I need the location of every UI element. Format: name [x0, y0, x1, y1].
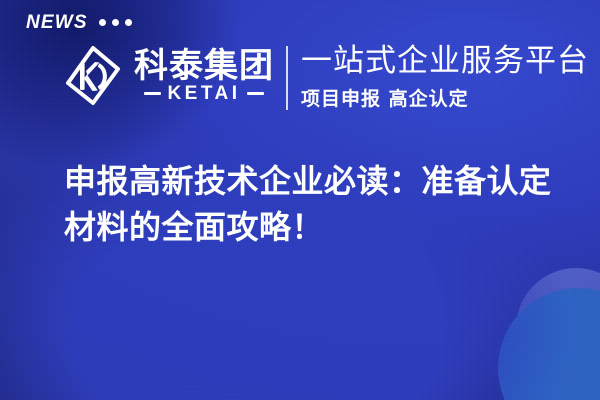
dot-icon: [99, 19, 106, 26]
decorative-circle-front: [498, 288, 600, 400]
brand-name-en: KETAI: [167, 84, 240, 103]
headline-text: 申报高新技术企业必读：准备认定材料的全面攻略！: [64, 158, 564, 251]
dot-icon: [112, 19, 119, 26]
news-banner: NEWS 科泰集团 KETAI: [0, 0, 600, 400]
news-label: NEWS: [26, 13, 88, 32]
brand-lockup: 科泰集团 KETAI: [62, 44, 274, 108]
news-badge: NEWS: [26, 13, 132, 32]
rule-left: [144, 92, 161, 95]
brand-name-cn: 科泰集团: [134, 49, 274, 84]
brand-wordmark: 科泰集团 KETAI: [134, 49, 274, 104]
ketai-logo-icon: [62, 44, 124, 108]
brand-name-en-row: KETAI: [134, 84, 274, 103]
news-dots-icon: [99, 19, 132, 26]
tagline-block: 一站式企业服务平台 项目申报 高企认定: [301, 44, 589, 111]
rule-right: [247, 92, 264, 95]
vertical-divider: [286, 46, 288, 110]
tagline-sub: 项目申报 高企认定: [301, 84, 589, 111]
tagline-main: 一站式企业服务平台: [301, 44, 589, 80]
dot-icon: [125, 19, 132, 26]
